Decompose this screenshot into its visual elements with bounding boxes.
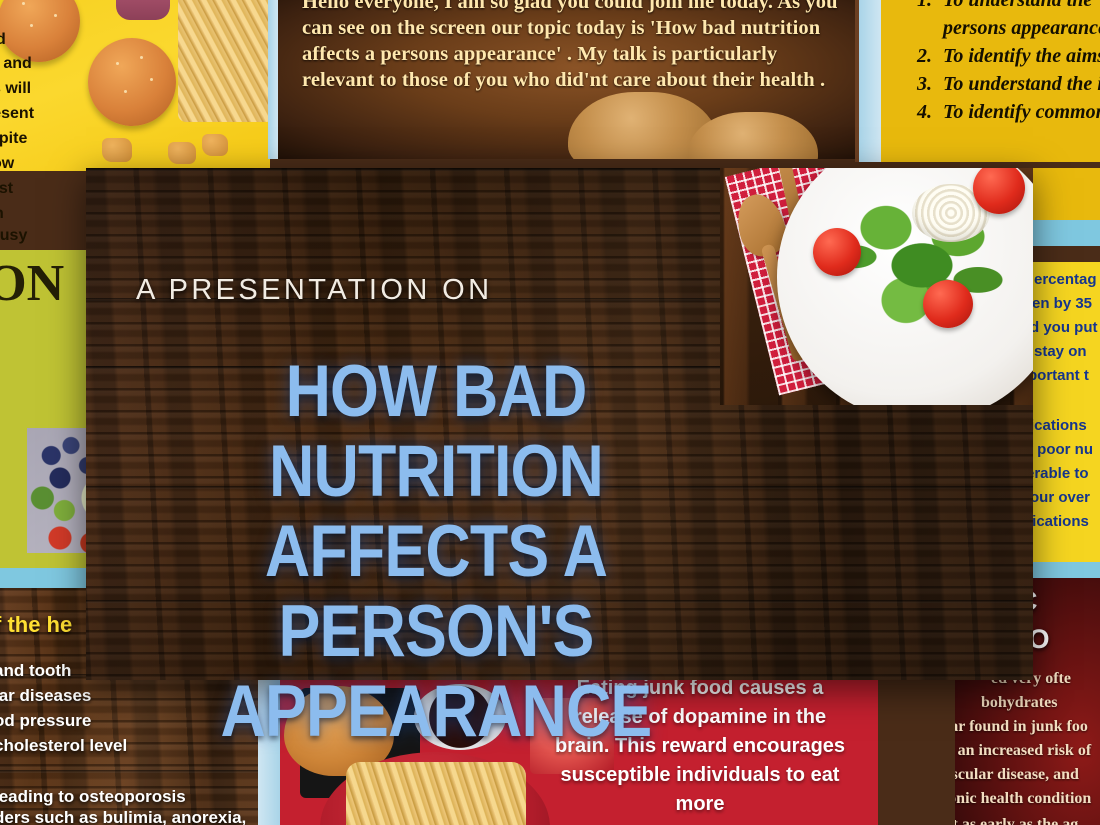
aims-item: 2.To identify the aims — [913, 42, 1100, 70]
nugget-graphic — [168, 142, 196, 164]
presentation-kicker: A PRESENTATION ON — [136, 274, 492, 307]
aims-item: 1.To understand the — [913, 0, 1100, 14]
burger-slide-line-1: e and — [0, 52, 32, 77]
health-slide-line-1: lar diseases — [0, 683, 91, 708]
plate-graphic — [777, 168, 1033, 405]
burger-slide-line-4: spite — [0, 127, 27, 152]
burger-slide-line-8: busy — [0, 224, 27, 249]
health-slide-line-3: cholesterol level — [0, 733, 127, 758]
stats-line-1: en by 35 — [1032, 292, 1092, 316]
aims-item-continuation: persons appearance. — [913, 14, 1100, 42]
stats-line2-0: ications — [1032, 414, 1087, 438]
effects-body-line-1: bohydrates — [981, 690, 1057, 716]
stats-line-3: stay on — [1034, 340, 1087, 364]
stats-line2-1: f poor nu — [1032, 438, 1093, 462]
effects-body-line-5: many other chronic health condition — [955, 786, 1091, 812]
title-line-3: APPEARANCE — [144, 672, 729, 752]
stats-line-0: ercentag — [1034, 268, 1097, 292]
fries-graphic — [346, 762, 526, 825]
intro-paragraph: Hello everyone, I am so glad you could j… — [302, 0, 847, 93]
page-title: HOW BAD NUTRITION AFFECTS A PERSON'S APP… — [144, 352, 729, 752]
ketchup-bottle-graphic — [116, 0, 170, 20]
background-slide-stats-top[interactable] — [1032, 168, 1100, 220]
health-slide-line2-1: ders such as bulimia, anorexia, — [0, 805, 246, 825]
burger-slide-line-6: est — [0, 177, 13, 202]
title-line-2: AFFECTS A PERSON'S — [144, 512, 729, 672]
salad-photo — [720, 168, 1033, 405]
aims-item: 3.To understand the i — [913, 70, 1100, 98]
nugget-graphic — [102, 138, 132, 162]
effects-body-line-2: and processed sugar found in junk foo — [955, 714, 1088, 740]
slide-edge — [855, 0, 881, 162]
health-slide-line-0: and tooth — [0, 658, 71, 683]
burger-graphic — [88, 38, 176, 126]
stats-line2-3: our over — [1032, 486, 1090, 510]
aims-list: 1.To understand the persons appearance. … — [883, 0, 1100, 126]
olive-slide-title: ION — [0, 254, 64, 313]
slide-edge — [268, 0, 278, 159]
health-slide-line-2: od pressure — [0, 708, 91, 733]
background-slide-stats[interactable]: ercentag en by 35 d you put stay on port… — [1032, 262, 1100, 562]
background-slide-intro[interactable]: Hello everyone, I am so glad you could j… — [268, 0, 860, 159]
nugget-graphic — [202, 134, 228, 156]
presentation-canvas: d e and s will resent spite ow est h bus… — [0, 0, 1100, 825]
stats-line2-2: erable to — [1032, 462, 1089, 486]
effects-body-line-3: contributes to an increased risk of — [955, 738, 1091, 764]
effects-body-line-4: obesity, cardiovascular disease, and — [955, 762, 1079, 788]
title-line-1: HOW BAD NUTRITION — [144, 352, 729, 512]
background-slide-burgers[interactable] — [0, 0, 270, 171]
stats-line2-4: lications — [1032, 510, 1089, 534]
burger-slide-line-3: resent — [0, 102, 34, 127]
burger-slide-line-7: h — [0, 202, 4, 227]
stats-line-4: portant t — [1032, 364, 1089, 388]
effects-body-line-6: Studies reveal that as early as the ag — [955, 812, 1078, 825]
background-slide-aims[interactable]: 1.To understand the persons appearance. … — [855, 0, 1100, 162]
tomato-graphic — [923, 280, 973, 328]
fries-graphic — [178, 0, 270, 122]
aims-item: 4.To identify common — [913, 98, 1100, 126]
health-slide-heading: f the he — [0, 612, 72, 638]
burger-slide-line-0: d — [0, 28, 6, 53]
burger-slide-line-2: s will — [0, 77, 31, 102]
stats-line-2: d you put — [1032, 316, 1098, 340]
tomato-graphic — [813, 228, 861, 276]
burger-slide-line-5: ow — [0, 152, 14, 177]
slide-edge — [1032, 220, 1100, 246]
